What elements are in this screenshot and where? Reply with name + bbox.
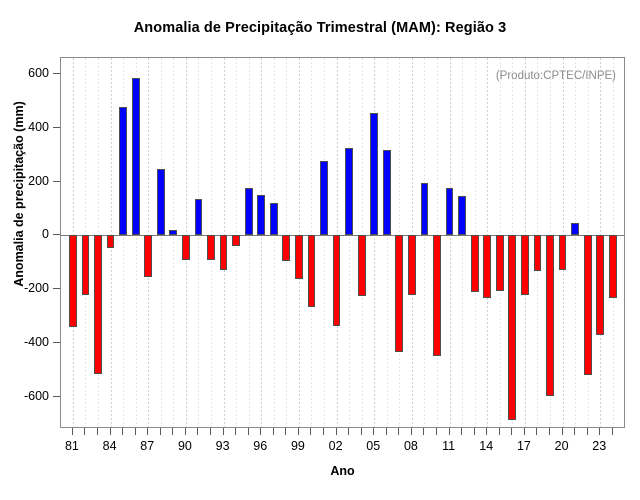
bar-2015 <box>496 235 504 291</box>
x-axis-title: Ano <box>60 464 625 478</box>
chart-title: Anomalia de Precipitação Trimestral (MAM… <box>0 20 640 36</box>
bar-2008 <box>408 235 416 294</box>
plot-area: (Produto:CPTEC/INPE) <box>60 57 625 428</box>
x-tick-label-99: 99 <box>291 439 305 453</box>
bar-2019 <box>546 235 554 396</box>
x-tick-mark <box>223 428 224 435</box>
bar-2000 <box>308 235 316 307</box>
bar-2017 <box>521 235 529 294</box>
y-tick-label--600: -600 <box>24 389 49 403</box>
x-tick-mark <box>197 428 198 435</box>
x-tick-label-11: 11 <box>442 439 455 453</box>
bar-1993 <box>220 235 228 269</box>
x-tick-label-90: 90 <box>178 439 192 453</box>
x-tick-mark <box>135 428 136 435</box>
x-tick-label-84: 84 <box>103 439 117 453</box>
x-tick-mark <box>285 428 286 435</box>
y-tick-label-600: 600 <box>28 66 49 80</box>
x-tick-mark <box>298 428 299 435</box>
bar-1987 <box>144 235 152 277</box>
x-tick-mark <box>436 428 437 435</box>
x-tick-mark <box>549 428 550 435</box>
x-tick-mark <box>260 428 261 435</box>
x-tick-label-02: 02 <box>329 439 343 453</box>
y-tick-mark <box>53 181 60 182</box>
x-tick-mark <box>499 428 500 435</box>
bar-2012 <box>458 196 466 235</box>
bar-1990 <box>182 235 190 259</box>
x-tick-mark <box>411 428 412 435</box>
x-tick-mark <box>398 428 399 435</box>
bar-1982 <box>82 235 90 295</box>
bar-1996 <box>257 195 265 235</box>
x-tick-mark <box>449 428 450 435</box>
bar-1998 <box>282 235 290 261</box>
bar-1991 <box>195 199 203 236</box>
y-tick-label--400: -400 <box>24 335 49 349</box>
bar-2013 <box>471 235 479 292</box>
x-tick-mark <box>160 428 161 435</box>
y-tick-mark <box>53 127 60 128</box>
x-tick-mark <box>235 428 236 435</box>
x-tick-label-96: 96 <box>253 439 267 453</box>
x-tick-mark <box>423 428 424 435</box>
x-axis: Ano 818487909396990205081114172023 <box>60 428 625 488</box>
bar-1984 <box>107 235 115 247</box>
x-tick-mark <box>587 428 588 435</box>
bar-2002 <box>333 235 341 326</box>
x-tick-mark <box>323 428 324 435</box>
y-tick-label-0: 0 <box>42 227 49 241</box>
bar-1994 <box>232 235 240 246</box>
bar-2007 <box>395 235 403 352</box>
bar-series <box>61 58 624 427</box>
bar-2014 <box>483 235 491 297</box>
bar-1985 <box>119 107 127 235</box>
x-tick-mark <box>599 428 600 435</box>
x-tick-label-08: 08 <box>404 439 418 453</box>
x-tick-mark <box>147 428 148 435</box>
x-tick-mark <box>84 428 85 435</box>
x-tick-label-05: 05 <box>366 439 380 453</box>
bar-1981 <box>69 235 77 327</box>
x-tick-mark <box>361 428 362 435</box>
bar-1986 <box>132 78 140 236</box>
bar-2004 <box>358 235 366 295</box>
x-tick-label-17: 17 <box>517 439 531 453</box>
x-tick-mark <box>248 428 249 435</box>
x-tick-mark <box>386 428 387 435</box>
bar-1995 <box>245 188 253 236</box>
x-tick-mark <box>612 428 613 435</box>
x-tick-label-14: 14 <box>479 439 493 453</box>
y-tick-mark <box>53 396 60 397</box>
y-tick-mark <box>53 288 60 289</box>
bar-1992 <box>207 235 215 259</box>
x-tick-mark <box>536 428 537 435</box>
x-tick-mark <box>574 428 575 435</box>
bar-2018 <box>534 235 542 270</box>
bar-2022 <box>584 235 592 375</box>
x-tick-mark <box>461 428 462 435</box>
product-credit: (Produto:CPTEC/INPE) <box>496 70 616 82</box>
y-tick-mark <box>53 234 60 235</box>
bar-2005 <box>370 113 378 235</box>
bar-1983 <box>94 235 102 373</box>
x-tick-label-20: 20 <box>555 439 569 453</box>
x-tick-label-81: 81 <box>65 439 79 453</box>
bar-2001 <box>320 161 328 236</box>
bar-2020 <box>559 235 567 269</box>
x-tick-mark <box>122 428 123 435</box>
bar-2021 <box>571 223 579 235</box>
y-tick-mark <box>53 342 60 343</box>
bar-2024 <box>609 235 617 297</box>
y-tick-mark <box>53 73 60 74</box>
x-tick-label-87: 87 <box>140 439 154 453</box>
x-tick-mark <box>97 428 98 435</box>
x-tick-label-93: 93 <box>216 439 230 453</box>
bar-1997 <box>270 203 278 236</box>
x-tick-mark <box>348 428 349 435</box>
y-axis-title: Anomalia de precipitação (mm) <box>12 34 26 354</box>
bar-2003 <box>345 148 353 236</box>
x-tick-mark <box>310 428 311 435</box>
x-tick-mark <box>110 428 111 435</box>
y-tick-label-200: 200 <box>28 174 49 188</box>
x-tick-mark <box>486 428 487 435</box>
x-tick-mark <box>273 428 274 435</box>
x-tick-mark <box>511 428 512 435</box>
x-tick-label-23: 23 <box>592 439 606 453</box>
x-tick-mark <box>562 428 563 435</box>
y-axis: Anomalia de precipitação (mm) 6004002000… <box>0 57 60 428</box>
x-tick-mark <box>210 428 211 435</box>
bar-2009 <box>421 183 429 236</box>
bar-2011 <box>446 188 454 236</box>
bar-2023 <box>596 235 604 335</box>
y-tick-label-400: 400 <box>28 120 49 134</box>
x-tick-mark <box>524 428 525 435</box>
x-tick-mark <box>336 428 337 435</box>
chart-root: Anomalia de Precipitação Trimestral (MAM… <box>0 0 640 500</box>
x-tick-mark <box>172 428 173 435</box>
bar-1999 <box>295 235 303 279</box>
x-tick-mark <box>373 428 374 435</box>
bar-1988 <box>157 169 165 235</box>
x-tick-mark <box>72 428 73 435</box>
y-tick-label--200: -200 <box>24 281 49 295</box>
x-tick-mark <box>185 428 186 435</box>
bar-2006 <box>383 150 391 235</box>
bar-2016 <box>508 235 516 420</box>
bar-2010 <box>433 235 441 355</box>
x-tick-mark <box>474 428 475 435</box>
bar-1989 <box>169 230 177 236</box>
